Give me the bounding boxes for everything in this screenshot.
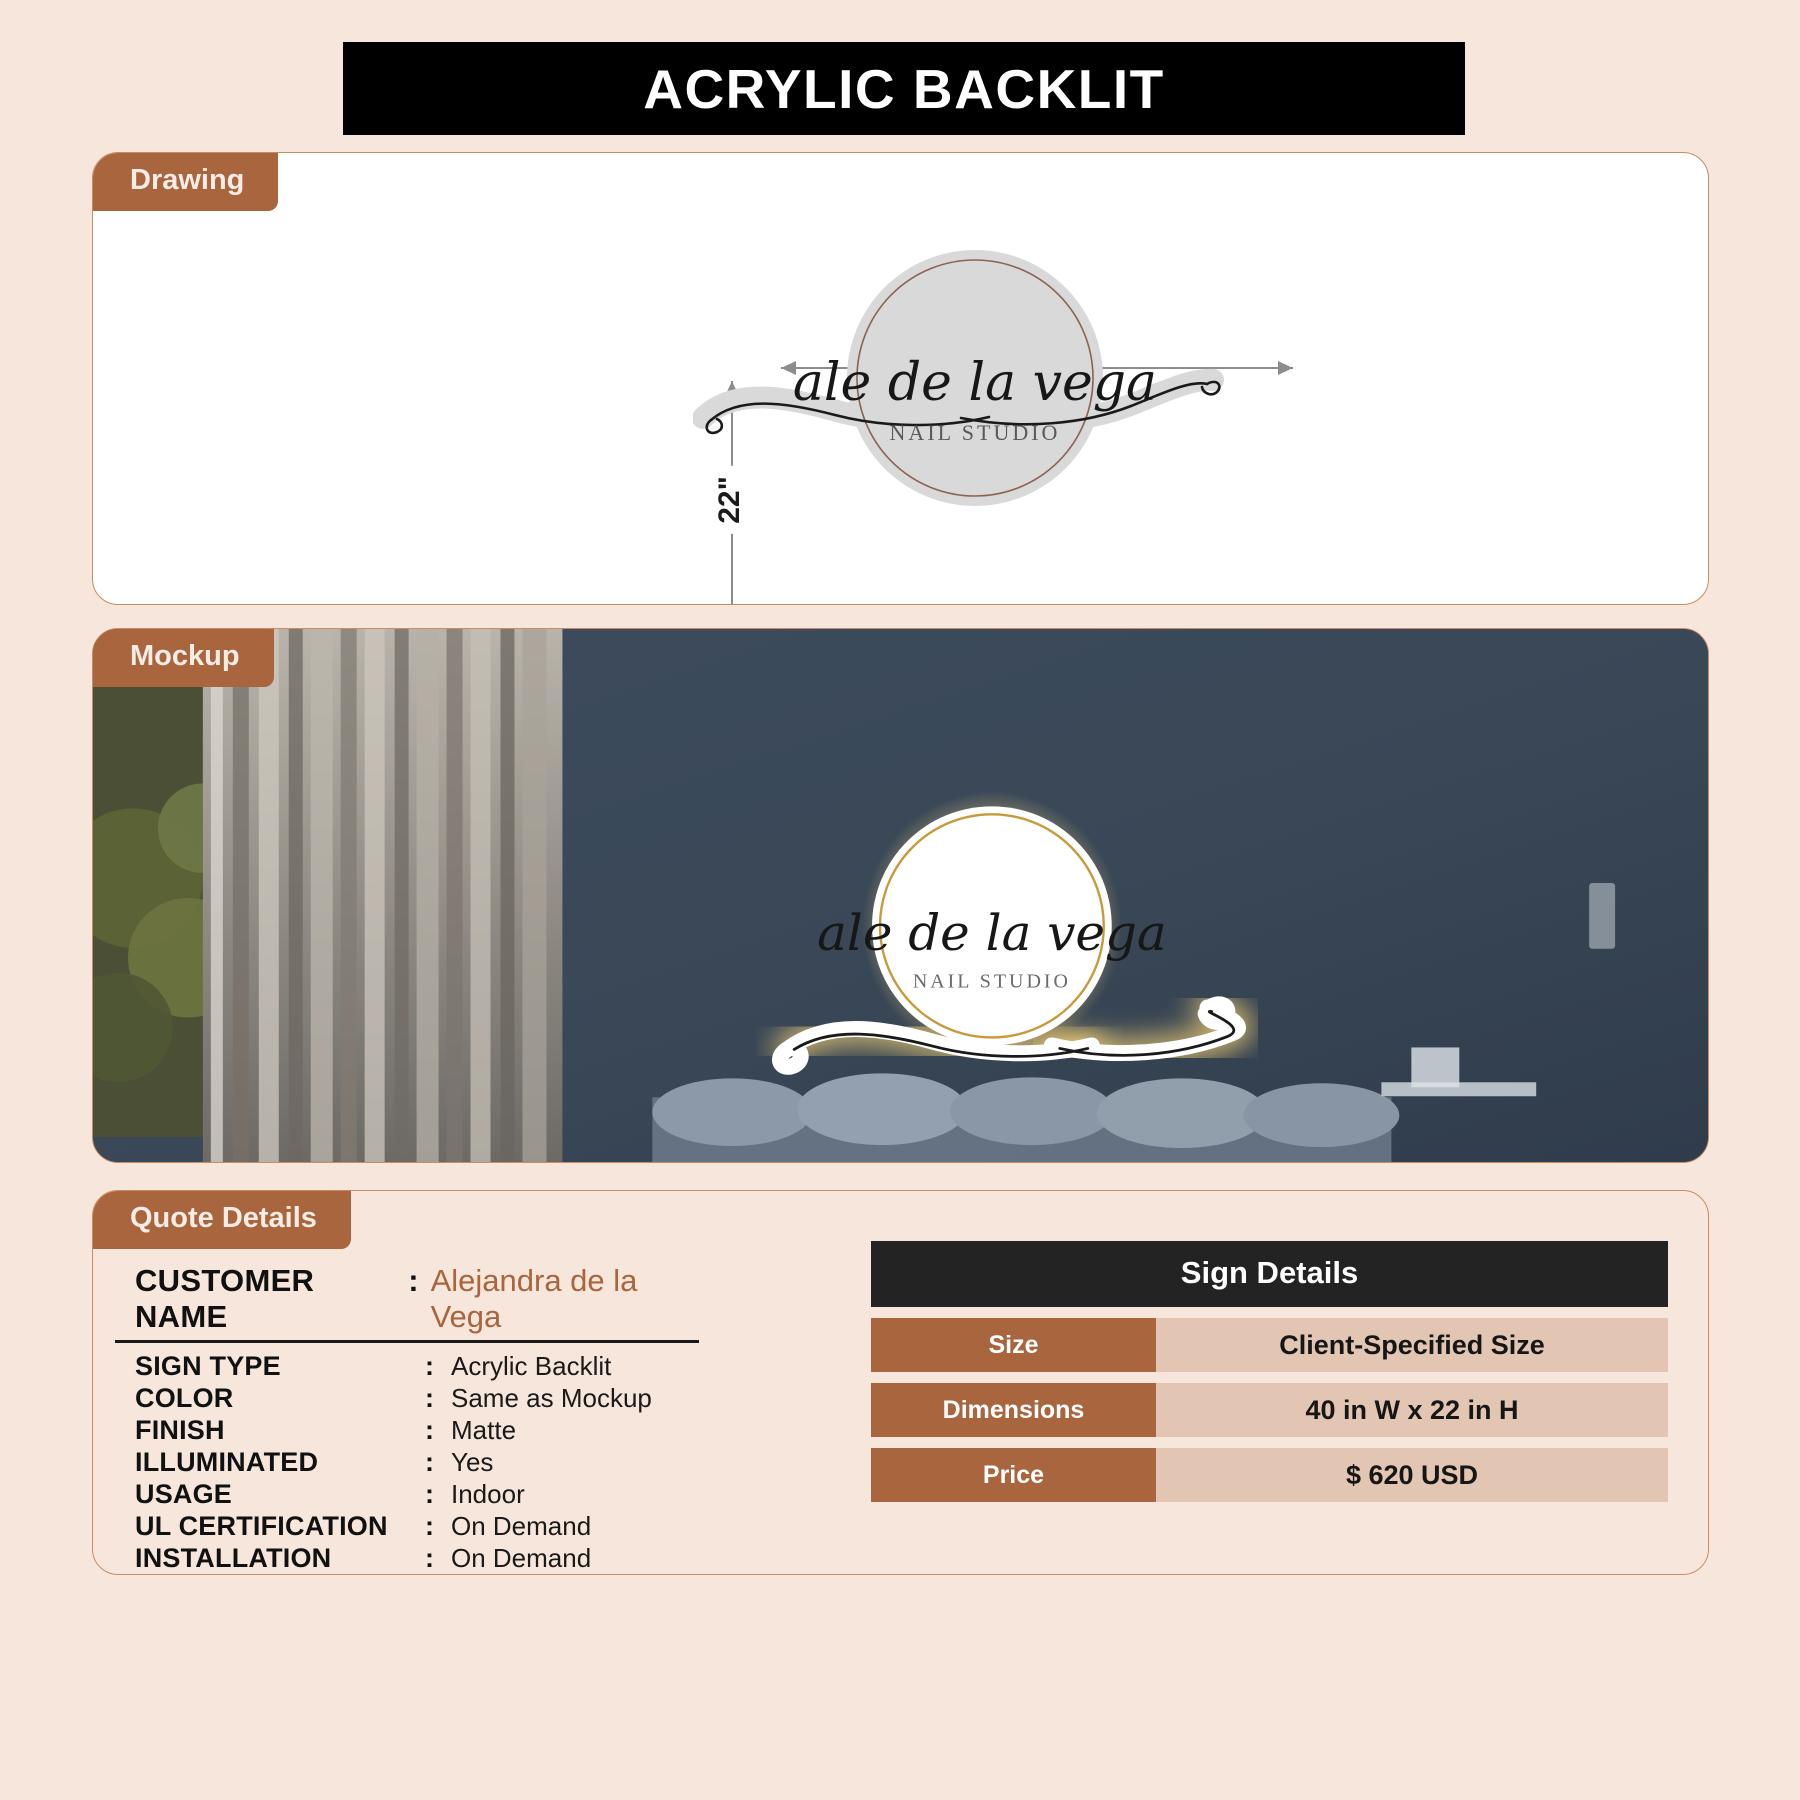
- customer-name-value: Alejandra de la Vega: [431, 1263, 699, 1335]
- spec-label: INSTALLATION: [135, 1543, 425, 1574]
- spec-colon: :: [425, 1415, 451, 1446]
- drawing-stage: 40" 22" ale de la vega NAIL STUDIO: [93, 153, 1708, 604]
- sign-details-value: Client-Specified Size: [1156, 1318, 1668, 1372]
- spec-label: FINISH: [135, 1415, 425, 1446]
- page-title: ACRYLIC BACKLIT: [643, 57, 1165, 121]
- quote-sheet-page: ACRYLIC BACKLIT Drawing 40" 22": [0, 0, 1800, 1800]
- spec-row-ul-certification: UL CERTIFICATION : On Demand: [135, 1511, 853, 1543]
- quote-details-tab-label: Quote Details: [92, 1190, 351, 1249]
- drawing-tab-label: Drawing: [92, 152, 278, 211]
- spec-label: USAGE: [135, 1479, 425, 1510]
- svg-text:ale de la vega: ale de la vega: [817, 904, 1167, 962]
- sign-details-column: Sign Details Size Client-Specified Size …: [853, 1191, 1708, 1574]
- spec-row-finish: FINISH : Matte: [135, 1415, 853, 1447]
- spec-value: Matte: [451, 1415, 516, 1446]
- svg-text:NAIL STUDIO: NAIL STUDIO: [890, 420, 1061, 445]
- mockup-card: Mockup: [92, 628, 1709, 1163]
- spec-label: UL CERTIFICATION: [135, 1511, 425, 1542]
- customer-name-label: CUSTOMER NAME: [135, 1263, 398, 1335]
- spec-colon: :: [425, 1511, 451, 1542]
- customer-name-row: CUSTOMER NAME : Alejandra de la Vega: [115, 1263, 699, 1343]
- spec-colon: :: [425, 1351, 451, 1382]
- spec-row-illuminated: ILLUMINATED : Yes: [135, 1447, 853, 1479]
- sign-details-row-dimensions: Dimensions 40 in W x 22 in H: [871, 1383, 1668, 1437]
- spec-colon: :: [425, 1543, 451, 1574]
- sign-details-key: Dimensions: [871, 1383, 1156, 1437]
- spec-value: Acrylic Backlit: [451, 1351, 611, 1382]
- sign-details-key: Price: [871, 1448, 1156, 1502]
- mockup-scene-image: ale de la vega NAIL STUDIO: [93, 629, 1708, 1162]
- spec-value: On Demand: [451, 1511, 591, 1542]
- mockup-tab-label: Mockup: [92, 628, 274, 687]
- spec-colon: :: [425, 1447, 451, 1478]
- sign-details-row-size: Size Client-Specified Size: [871, 1318, 1668, 1372]
- drawing-logo-artwork: ale de la vega NAIL STUDIO: [693, 228, 1253, 528]
- spec-label: COLOR: [135, 1383, 425, 1414]
- sign-details-value: 40 in W x 22 in H: [1156, 1383, 1668, 1437]
- drawing-card: Drawing 40" 22" ale de la v: [92, 152, 1709, 605]
- svg-text:ale de la vega: ale de la vega: [793, 353, 1157, 413]
- customer-name-colon: :: [408, 1263, 418, 1299]
- spec-value: Yes: [451, 1447, 493, 1478]
- sign-details-key: Size: [871, 1318, 1156, 1372]
- spec-value: Same as Mockup: [451, 1383, 652, 1414]
- sign-details-value: $ 620 USD: [1156, 1448, 1668, 1502]
- spec-row-usage: USAGE : Indoor: [135, 1479, 853, 1511]
- spec-colon: :: [425, 1383, 451, 1414]
- page-title-bar: ACRYLIC BACKLIT: [343, 42, 1465, 135]
- spec-row-installation: INSTALLATION : On Demand: [135, 1543, 853, 1575]
- spec-label: SIGN TYPE: [135, 1351, 425, 1382]
- quote-details-card: Quote Details CUSTOMER NAME : Alejandra …: [92, 1190, 1709, 1575]
- spec-row-sign-type: SIGN TYPE : Acrylic Backlit: [135, 1351, 853, 1383]
- sign-details-header: Sign Details: [871, 1241, 1668, 1307]
- spec-row-color: COLOR : Same as Mockup: [135, 1383, 853, 1415]
- spec-value: On Demand: [451, 1543, 591, 1574]
- spec-label: ILLUMINATED: [135, 1447, 425, 1478]
- spec-value: Indoor: [451, 1479, 525, 1510]
- spec-list: SIGN TYPE : Acrylic Backlit COLOR : Same…: [115, 1351, 853, 1575]
- svg-text:NAIL STUDIO: NAIL STUDIO: [913, 971, 1071, 993]
- sign-details-row-price: Price $ 620 USD: [871, 1448, 1668, 1502]
- spec-colon: :: [425, 1479, 451, 1510]
